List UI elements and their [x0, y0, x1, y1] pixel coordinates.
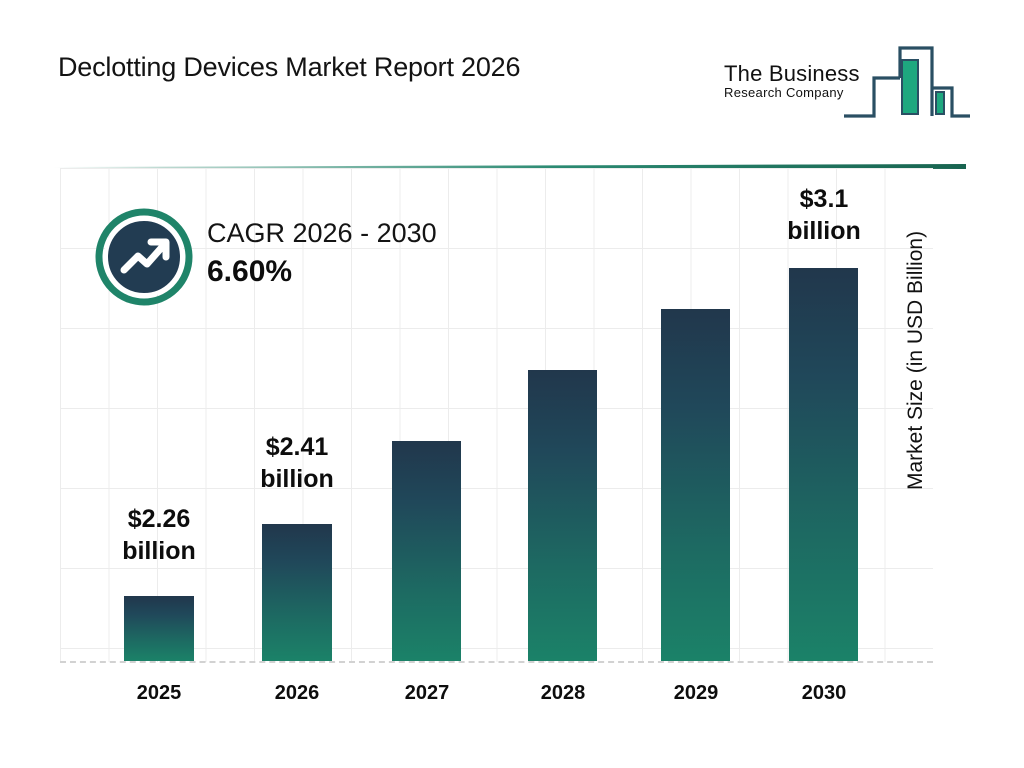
x-label-2025: 2025	[109, 681, 209, 705]
cagr-text-block: CAGR 2026 - 2030 6.60%	[207, 214, 437, 292]
bar-chart: $2.26 billion $2.41 billion $3.1 billion…	[0, 0, 1024, 768]
cagr-annotation: CAGR 2026 - 2030 6.60%	[95, 208, 515, 308]
value-label-2026-unit: billion	[227, 463, 367, 495]
value-label-2025-amount: $2.26	[89, 503, 229, 535]
trending-up-icon	[95, 208, 193, 311]
value-label-2030-unit: billion	[754, 215, 894, 247]
axis-baseline	[60, 661, 933, 663]
value-label-2025-unit: billion	[89, 535, 229, 567]
bar-2025[interactable]	[124, 596, 194, 661]
bar-2028[interactable]	[528, 370, 597, 661]
y-axis-title: Market Size (in USD Billion)	[904, 130, 928, 490]
cagr-range-label: CAGR 2026 - 2030	[207, 214, 437, 252]
bar-2026[interactable]	[262, 524, 332, 661]
x-label-2027: 2027	[377, 681, 477, 705]
cagr-value: 6.60%	[207, 252, 437, 292]
x-label-2030: 2030	[774, 681, 874, 705]
value-label-2026-amount: $2.41	[227, 431, 367, 463]
bar-2027[interactable]	[392, 441, 461, 661]
x-label-2028: 2028	[513, 681, 613, 705]
bar-2029[interactable]	[661, 309, 730, 661]
value-label-2025: $2.26 billion	[89, 503, 229, 567]
value-label-2030-amount: $3.1	[754, 183, 894, 215]
value-label-2030: $3.1 billion	[754, 183, 894, 247]
x-label-2029: 2029	[646, 681, 746, 705]
value-label-2026: $2.41 billion	[227, 431, 367, 495]
x-label-2026: 2026	[247, 681, 347, 705]
bar-2030[interactable]	[789, 268, 858, 661]
